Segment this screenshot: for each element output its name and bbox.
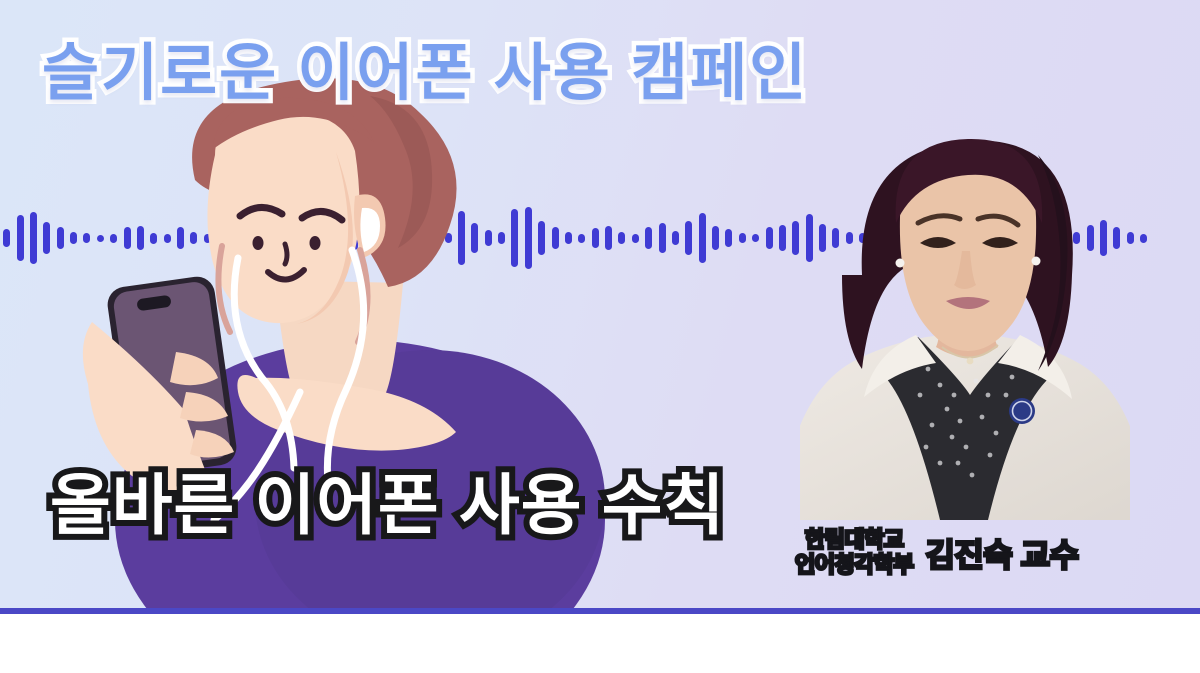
footer-bar: 한림대학교 HALLYM UNIVERSITY 사단법인 한국장애인보건의료협의…	[0, 614, 1200, 673]
eye-left	[253, 236, 264, 250]
speaker-credit: 한림대학교 언어청각학부 김진숙 교수	[795, 528, 1079, 577]
presenter-video	[800, 95, 1130, 520]
waveform-bar	[792, 221, 799, 255]
eye-right	[310, 236, 321, 250]
speaker-name: 김진숙 교수	[925, 530, 1078, 576]
waveform-bar	[1140, 234, 1147, 243]
video-subtitle: 올바른 이어폰 사용 수칙	[50, 452, 725, 548]
speaker-affiliation-line2: 언어청각학부	[795, 553, 913, 578]
page-title: 슬기로운 이어폰 사용 캠페인	[42, 22, 808, 112]
speaker-affiliation: 한림대학교 언어청각학부	[795, 528, 913, 577]
video-frame: 슬기로운 이어폰 사용 캠페인 올바른 이어폰 사용 수칙 한림대학교 언어청각…	[0, 0, 1200, 673]
video-canvas: 슬기로운 이어폰 사용 캠페인 올바른 이어폰 사용 수칙 한림대학교 언어청각…	[0, 0, 1200, 610]
waveform-bar	[779, 225, 786, 251]
waveform-bar	[766, 227, 773, 249]
speaker-affiliation-line1: 한림대학교	[795, 528, 913, 553]
